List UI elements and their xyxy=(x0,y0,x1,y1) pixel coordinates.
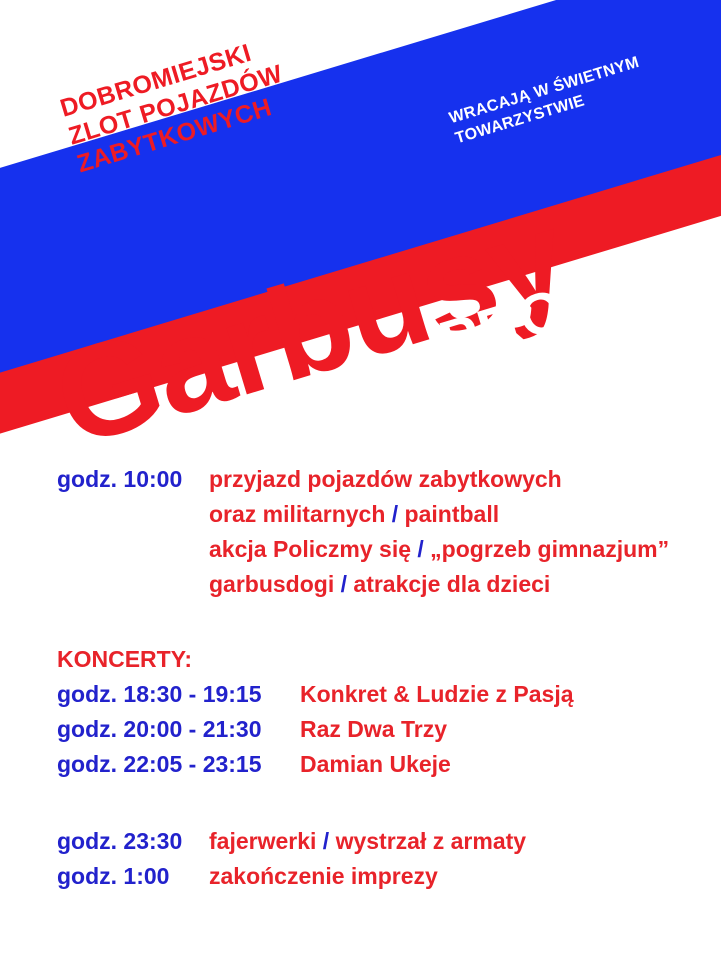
schedule-row: oraz militarnych / paintball xyxy=(57,497,697,532)
concert-row: godz. 20:00 - 21:30 Raz Dwa Trzy xyxy=(57,712,697,747)
concert-row: godz. 18:30 - 19:15 Konkret & Ludzie z P… xyxy=(57,677,697,712)
concert-time: godz. 20:00 - 21:30 xyxy=(57,712,300,747)
schedule-description: wystrzał z armaty xyxy=(329,824,526,859)
schedule-description: garbusdogi xyxy=(209,567,341,602)
concert-time: godz. 22:05 - 23:15 xyxy=(57,747,300,782)
spacer xyxy=(57,782,697,824)
concerts-heading: KONCERTY: xyxy=(57,642,697,677)
banner-area: DOBROMIEJSKI ZLOT POJAZDÓW ZABYTKOWYCH W… xyxy=(0,0,721,440)
concert-artist: Damian Ukeje xyxy=(300,747,451,782)
poster-root: DOBROMIEJSKI ZLOT POJAZDÓW ZABYTKOWYCH W… xyxy=(0,0,721,960)
schedule-row: godz. 10:00 przyjazd pojazdów zabytkowyc… xyxy=(57,462,697,497)
schedule-description: akcja Policzmy się xyxy=(209,532,417,567)
schedule-description: przyjazd pojazdów zabytkowych xyxy=(209,462,562,497)
schedule-description: oraz militarnych xyxy=(209,497,392,532)
spacer xyxy=(57,602,697,642)
concert-artist: Konkret & Ludzie z Pasją xyxy=(300,677,574,712)
schedule-row: godz. 23:30 fajerwerki / wystrzał z arma… xyxy=(57,824,697,859)
schedule-group-morning: godz. 10:00 przyjazd pojazdów zabytkowyc… xyxy=(57,462,697,602)
schedule-group-concerts: KONCERTY: godz. 18:30 - 19:15 Konkret & … xyxy=(57,642,697,782)
schedule-time: godz. 10:00 xyxy=(57,462,209,497)
concert-row: godz. 22:05 - 23:15 Damian Ukeje xyxy=(57,747,697,782)
schedule-description: zakończenie imprezy xyxy=(209,859,438,894)
schedule-description: „pogrzeb gimnazjum” xyxy=(424,532,669,567)
concert-artist: Raz Dwa Trzy xyxy=(300,712,447,747)
schedule-time: godz. 23:30 xyxy=(57,824,209,859)
schedule-description: paintball xyxy=(398,497,499,532)
schedule-row: garbusdogi / atrakcje dla dzieci xyxy=(57,567,697,602)
schedule-description: atrakcje dla dzieci xyxy=(347,567,550,602)
schedule-description: fajerwerki xyxy=(209,824,323,859)
schedule-row: godz. 1:00 zakończenie imprezy xyxy=(57,859,697,894)
schedule-group-finale: godz. 23:30 fajerwerki / wystrzał z arma… xyxy=(57,824,697,894)
concert-time: godz. 18:30 - 19:15 xyxy=(57,677,300,712)
schedule-time: godz. 1:00 xyxy=(57,859,209,894)
program-schedule: godz. 10:00 przyjazd pojazdów zabytkowyc… xyxy=(57,462,697,894)
schedule-row: akcja Policzmy się / „pogrzeb gimnazjum” xyxy=(57,532,697,567)
